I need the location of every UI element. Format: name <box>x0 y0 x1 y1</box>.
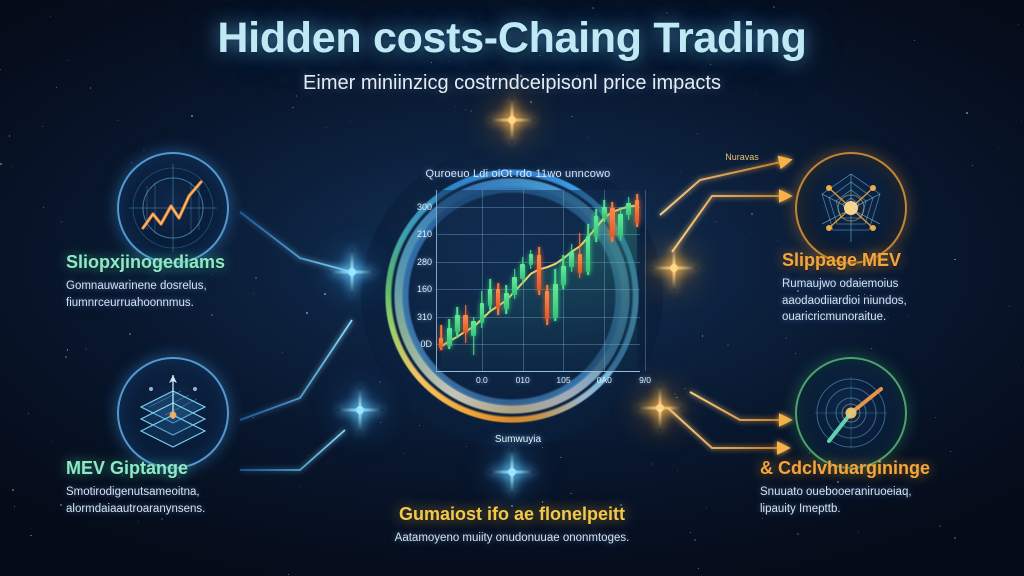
y-axis-tick-label: 210 <box>417 229 432 239</box>
y-axis-tick-label: 0D <box>420 339 432 349</box>
chart-title: Quroeuo Ldi oiOt rdo 11wo unncowo <box>396 168 640 180</box>
candlestick-body <box>561 266 566 285</box>
candlestick-body <box>447 328 452 346</box>
chart-gridline-v <box>645 190 646 371</box>
candlestick-body <box>455 315 460 333</box>
ring-node-left <box>348 268 356 276</box>
label-top-right-line3: ouaricricmunoraitue. <box>782 309 1024 326</box>
x-axis-tick-label: 0.0 <box>476 375 488 385</box>
candlestick-body <box>610 208 615 238</box>
y-axis-tick-label: 310 <box>417 312 432 322</box>
x-axis-title: Sumwuyia <box>495 434 541 445</box>
ring-node-right <box>670 264 678 272</box>
label-top-left-line2: fiumnrceurruahoonnmus. <box>66 295 316 312</box>
ring-node-lower-right <box>656 404 664 412</box>
label-bottom-right-line2: lipauity Imepttb. <box>760 501 1010 518</box>
radial-web-icon[interactable] <box>795 152 907 264</box>
header: Hidden costs-Chaing Trading Eimer miniin… <box>0 14 1024 95</box>
label-bottom-center-heading: Gumaiost ifo ae flonelpeitt <box>302 504 722 525</box>
candlestick-body <box>520 264 525 279</box>
label-bottom-left: MEV Giptange Smotirodigenutsameoitna, al… <box>66 458 316 517</box>
candlestick-body <box>626 203 631 215</box>
label-bottom-left-line2: alormdaiaautroaranynsens. <box>66 501 316 518</box>
gauge-dial-icon[interactable] <box>795 357 907 469</box>
infographic-canvas: Hidden costs-Chaing Trading Eimer miniin… <box>0 0 1024 576</box>
candlestick-down <box>439 190 444 372</box>
candlestick-body <box>635 200 640 223</box>
candlestick-body <box>504 293 509 310</box>
trend-line-glyph <box>117 152 229 264</box>
page-title: Hidden costs-Chaing Trading <box>0 14 1024 63</box>
candlestick-chart: Quroeuo Ldi oiOt rdo 11wo unncowo 0D3101… <box>396 168 640 418</box>
candlestick-body <box>529 254 534 265</box>
candlestick-body <box>512 277 517 295</box>
label-bottom-center-line1: Aatamoyeno muiity onudonuuae ononmtoges. <box>302 530 722 547</box>
candlestick-body <box>569 252 574 267</box>
stacked-layers-icon[interactable] <box>117 357 229 469</box>
candlestick-up <box>594 190 599 372</box>
candlestick-up <box>618 190 623 372</box>
x-axis-tick-label: 010 <box>516 375 530 385</box>
candlestick-up <box>529 190 534 372</box>
radial-web-glyph <box>795 152 907 264</box>
x-axis-tick-label: 9/0 <box>639 375 651 385</box>
label-bottom-right-heading: & Cdclvhuargininge <box>760 458 1010 479</box>
label-top-left: Sliopxjinogediams Gomnauwarinene dosrelu… <box>66 252 316 311</box>
candlestick-up <box>455 190 460 372</box>
candlestick-up <box>520 190 525 372</box>
y-axis-tick-label: 300 <box>417 202 432 212</box>
candlestick-down <box>578 190 583 372</box>
label-bottom-right: & Cdclvhuargininge Snuuato ouebooeraniru… <box>760 458 1010 517</box>
candlestick-down <box>635 190 640 372</box>
candlestick-down <box>463 190 468 372</box>
candlestick-body <box>463 315 468 334</box>
candlestick-up <box>626 190 631 372</box>
label-bottom-left-heading: MEV Giptange <box>66 458 316 479</box>
trend-line-circle-icon[interactable] <box>117 152 229 264</box>
candlestick-body <box>594 216 599 237</box>
label-top-right-line1: Rumaujwo odaiemoius <box>782 276 1024 293</box>
y-axis-tick-label: 160 <box>417 284 432 294</box>
label-top-left-line1: Gomnauwarinene dosrelus, <box>66 278 316 295</box>
x-axis-tick-label: 0A0 <box>597 375 612 385</box>
candlestick-up <box>512 190 517 372</box>
page-subtitle: Eimer miniinzicg costrndceipisonl price … <box>0 72 1024 95</box>
candlestick-up <box>602 190 607 372</box>
candlestick-up <box>504 190 509 372</box>
y-axis-tick-label: 280 <box>417 257 432 267</box>
candlestick-down <box>610 190 615 372</box>
x-axis-tick-label: 105 <box>556 375 570 385</box>
label-top-right-heading: Slippage MEV <box>782 250 1024 271</box>
label-bottom-center: Gumaiost ifo ae flonelpeitt Aatamoyeno m… <box>302 504 722 547</box>
candlestick-up <box>561 190 566 372</box>
gauge-dial-glyph <box>795 357 907 469</box>
label-top-left-heading: Sliopxjinogediams <box>66 252 316 273</box>
candlestick-body <box>578 254 583 273</box>
candlestick-body <box>586 236 591 271</box>
candlestick-body <box>618 214 623 236</box>
stacked-layers-glyph <box>117 357 229 469</box>
candlestick-body <box>602 207 607 218</box>
candlestick-down <box>545 190 550 372</box>
candlestick-up <box>488 190 493 372</box>
connector-bottom-right-2 <box>690 392 790 420</box>
candlestick-body <box>496 289 501 308</box>
candlestick-body <box>439 338 444 348</box>
candlestick-body <box>488 289 493 306</box>
label-top-right: Slippage MEV Rumaujwo odaiemoius aaodaod… <box>782 250 1024 326</box>
candlestick-up <box>553 190 558 372</box>
arrow-label: Nuravas <box>725 152 759 162</box>
candlestick-up <box>480 190 485 372</box>
label-top-right-line2: aaodaodiiardioi niundos, <box>782 293 1024 310</box>
chart-plot-area: 0D3101602802103000.00101050A09/0 <box>436 190 640 372</box>
candlestick-body <box>480 303 485 324</box>
candlestick-down <box>537 190 542 372</box>
candlestick-up <box>569 190 574 372</box>
candlestick-body <box>537 255 542 290</box>
ring-node-lower-left <box>356 406 364 414</box>
candlestick-up <box>447 190 452 372</box>
label-bottom-right-line1: Snuuato ouebooeraniruoeiaq, <box>760 484 1010 501</box>
candlestick-down <box>496 190 501 372</box>
label-bottom-left-line1: Smotirodigenutsameoitna, <box>66 484 316 501</box>
candlestick-body <box>471 321 476 335</box>
ring-node-bottom <box>508 468 516 476</box>
candlestick-up <box>586 190 591 372</box>
candlestick-body <box>545 291 550 319</box>
candlestick-up <box>471 190 476 372</box>
ring-node-top <box>508 116 516 124</box>
candlestick-body <box>553 284 558 318</box>
